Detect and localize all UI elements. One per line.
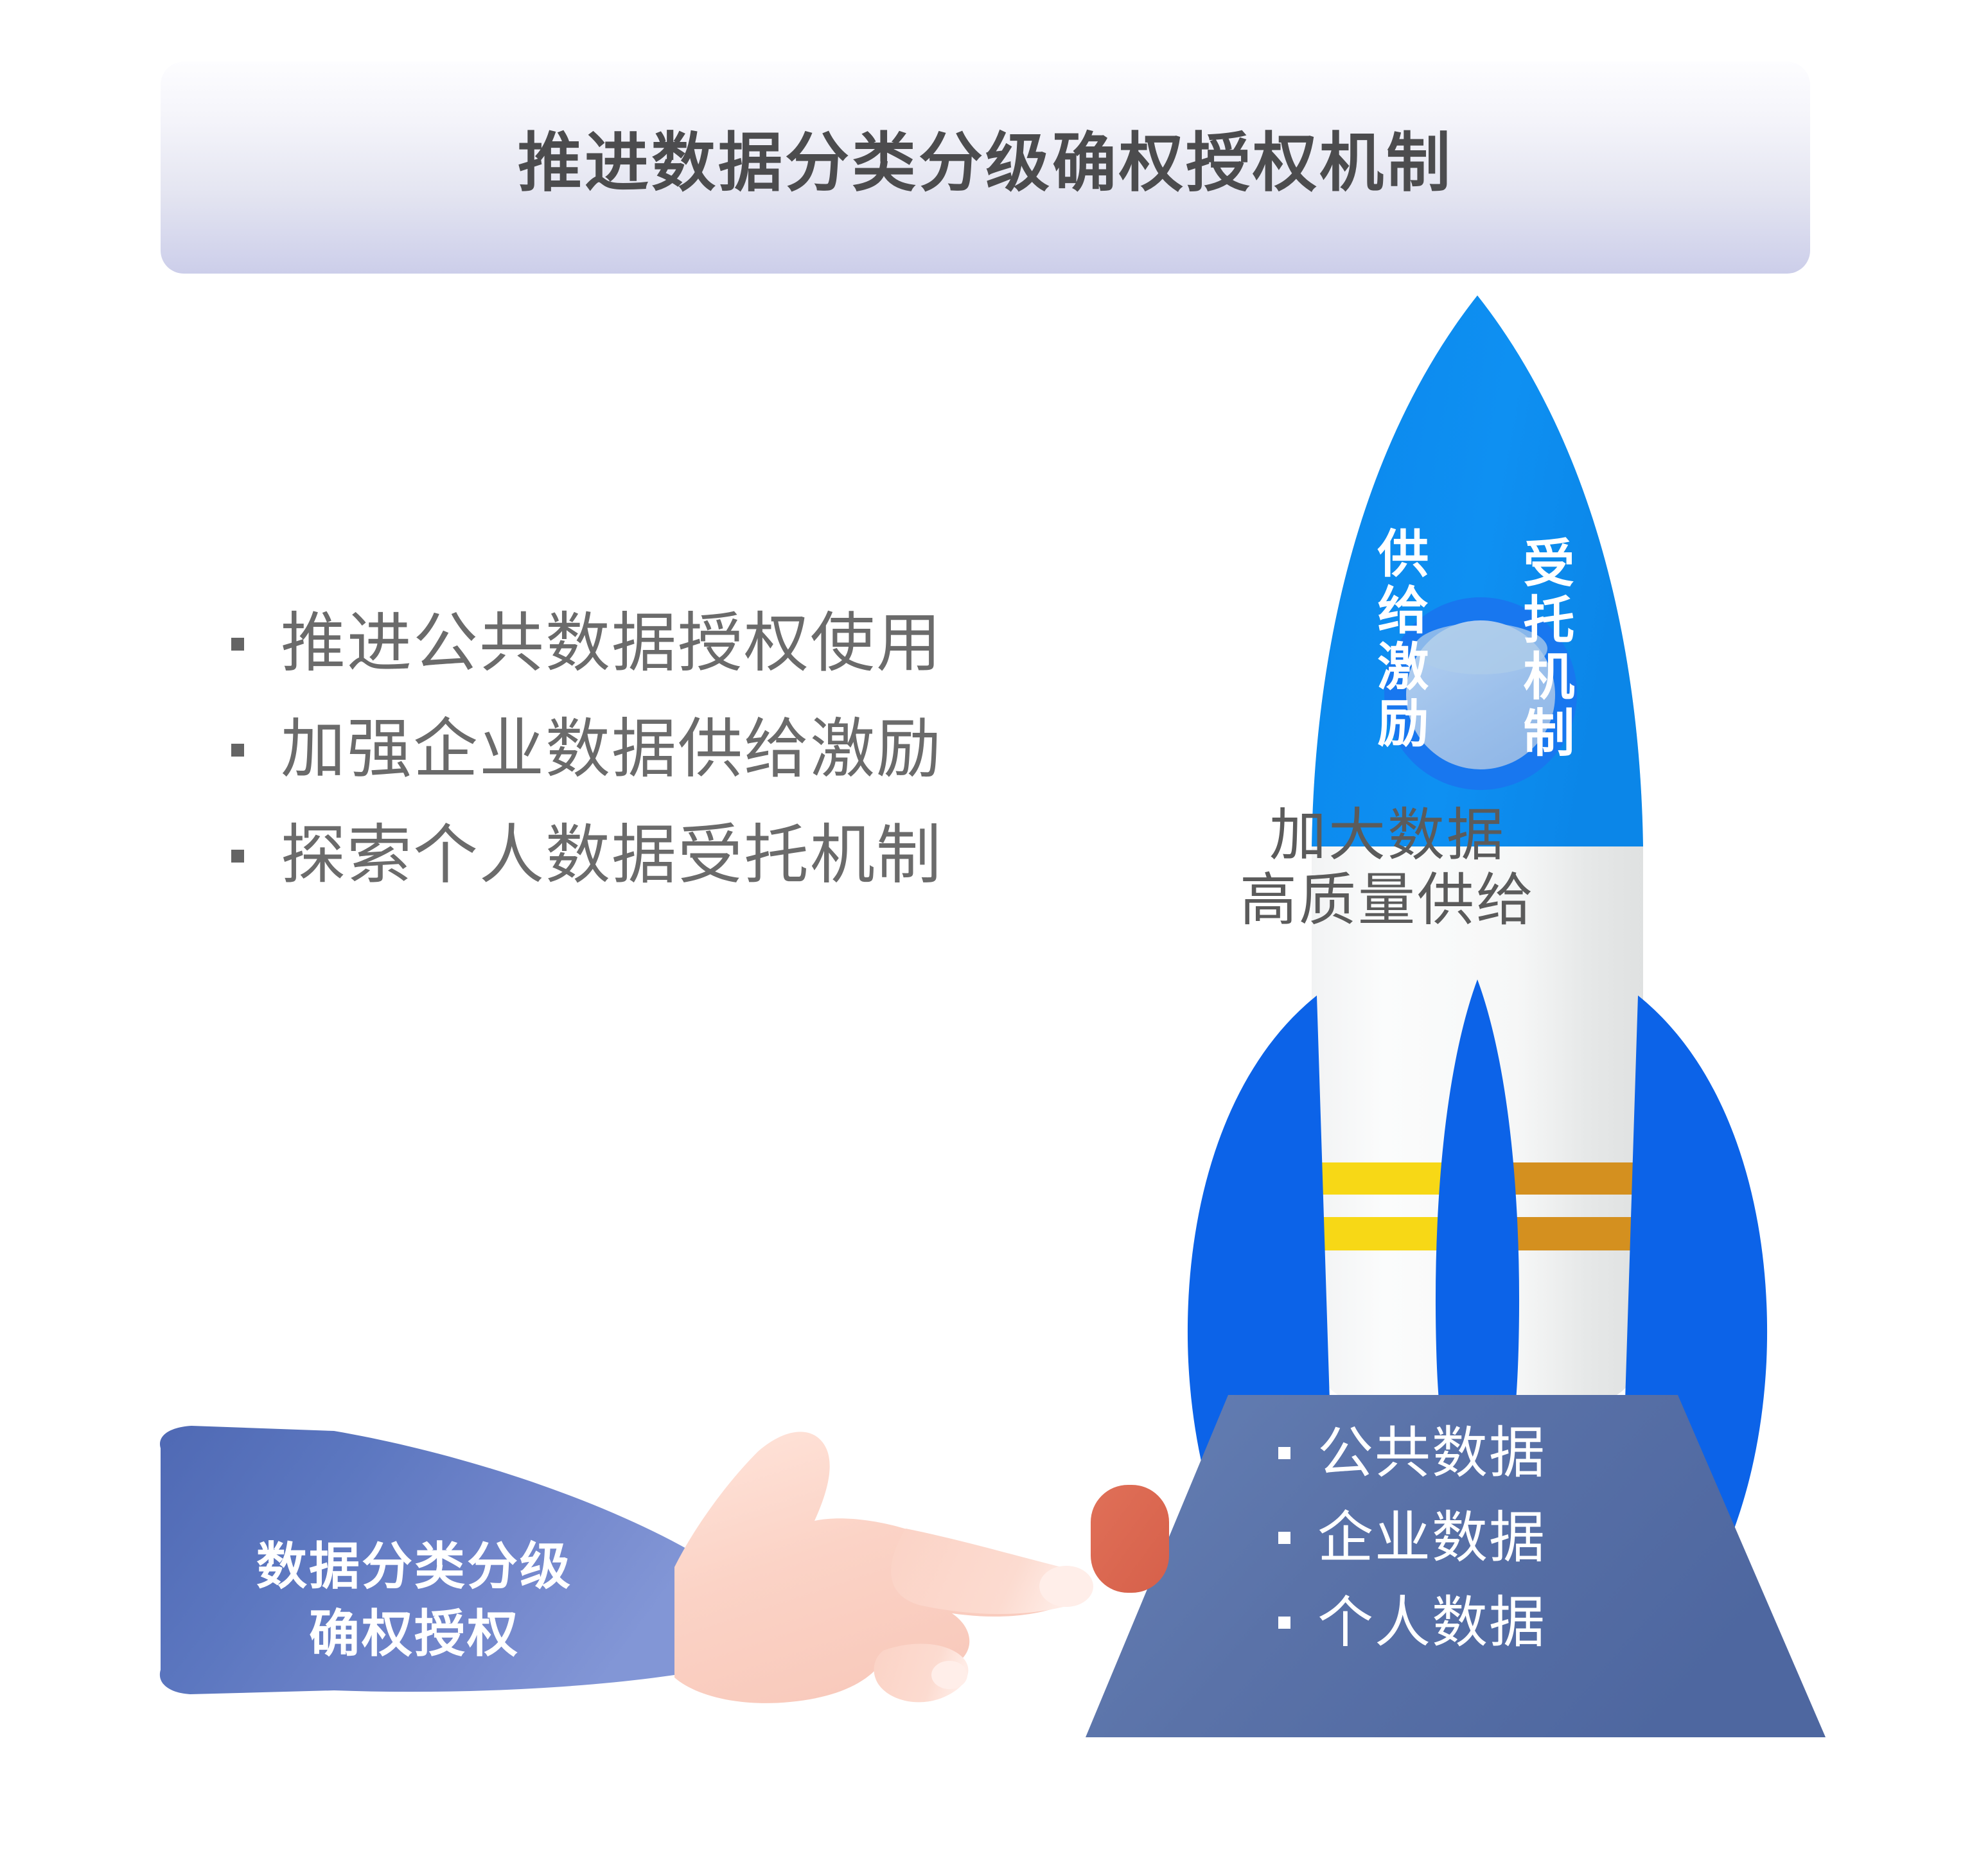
- data-category-label: 公共数据: [1317, 1425, 1546, 1481]
- infographic-canvas: 推进数据分类分级确权授权机制 推进公共数据授权使用 加强企业数据供给激励 探索个…: [0, 0, 1972, 1876]
- measure-label: 推进公共数据授权使用: [281, 611, 942, 676]
- square-bullet-icon: [1278, 1532, 1290, 1544]
- measure-label: 加强企业数据供给激励: [281, 717, 942, 782]
- title-banner: 推进数据分类分级确权授权机制: [161, 62, 1810, 274]
- measures-list: 推进公共数据授权使用 加强企业数据供给激励 探索个人数据受托机制: [231, 591, 1131, 909]
- sleeve-caption: 数据分类分级 确权授权: [161, 1532, 668, 1667]
- fin-label-right: 受托机制: [1518, 536, 1571, 762]
- data-category-label: 个人数据: [1317, 1595, 1546, 1651]
- page-title: 推进数据分类分级确权授权机制: [161, 62, 1810, 274]
- fingernail: [1039, 1566, 1093, 1607]
- rocket-caption-line-2: 高质量供给: [1214, 868, 1561, 933]
- sleeve-caption-line-2: 确权授权: [161, 1600, 668, 1667]
- sleeve-caption-line-1: 数据分类分级: [161, 1532, 668, 1600]
- list-item: 推进公共数据授权使用: [231, 591, 1131, 697]
- fin-label-center: 供给激励: [1372, 527, 1425, 753]
- fingernail-second: [931, 1661, 967, 1689]
- data-category-list: 公共数据 企业数据 个人数据: [1278, 1410, 1728, 1665]
- list-item: 公共数据: [1278, 1410, 1728, 1495]
- square-bullet-icon: [231, 850, 244, 863]
- square-bullet-icon: [231, 638, 244, 651]
- launch-button[interactable]: [1091, 1485, 1169, 1593]
- list-item: 加强企业数据供给激励: [231, 697, 1131, 803]
- rocket-caption-line-1: 加大数据: [1214, 803, 1561, 868]
- list-item: 企业数据: [1278, 1495, 1728, 1580]
- fin-label-left: 授权使用: [1226, 536, 1278, 762]
- rocket-body-caption: 加大数据 高质量供给: [1214, 803, 1561, 933]
- data-category-label: 企业数据: [1317, 1510, 1546, 1566]
- square-bullet-icon: [1278, 1617, 1290, 1629]
- hand-illustration: 数据分类分级 确权授权: [141, 1413, 1195, 1747]
- list-item: 探索个人数据受托机制: [231, 803, 1131, 909]
- list-item: 个人数据: [1278, 1580, 1728, 1665]
- square-bullet-icon: [1278, 1447, 1290, 1459]
- measure-label: 探索个人数据受托机制: [281, 823, 942, 888]
- square-bullet-icon: [231, 744, 244, 757]
